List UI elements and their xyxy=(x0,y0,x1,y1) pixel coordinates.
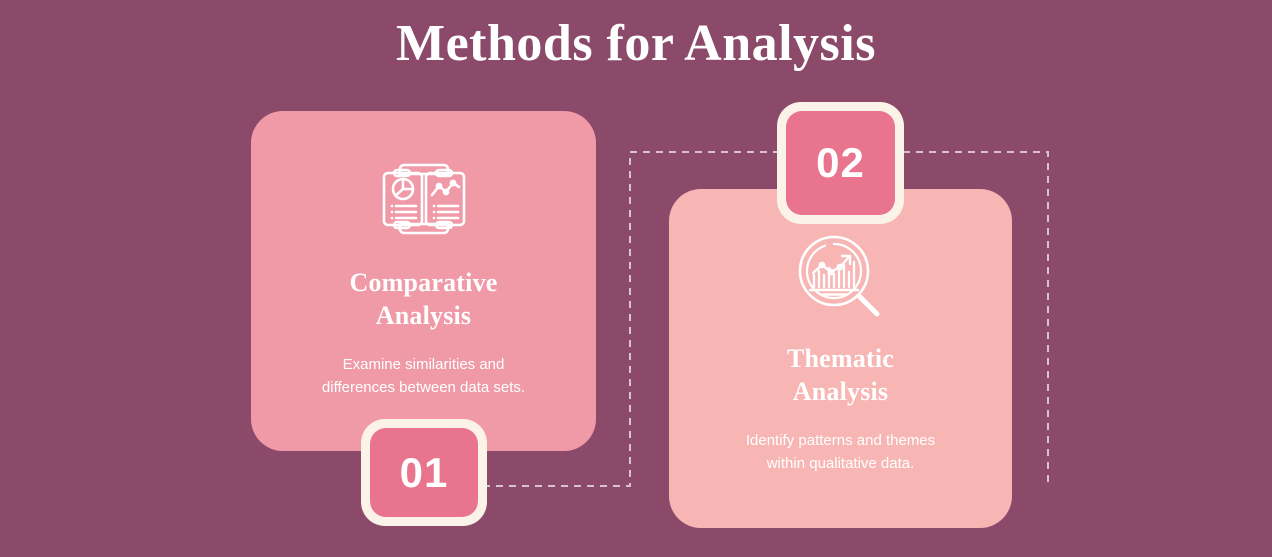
magnifier-bar-chart-icon xyxy=(789,229,893,321)
step-badge-02[interactable]: 02 xyxy=(786,111,895,215)
card-heading-line-2: Analysis xyxy=(787,376,894,409)
dashed-path-connector xyxy=(0,0,1272,557)
card-heading-line-2: Analysis xyxy=(349,300,497,333)
card-thematic-analysis[interactable]: Thematic Analysis Identify patterns and … xyxy=(669,189,1012,528)
card-heading-line-1: Comparative xyxy=(349,267,497,300)
card-heading-line-1: Thematic xyxy=(787,343,894,376)
card-description: Identify patterns and themes within qual… xyxy=(726,430,956,476)
badge-number: 01 xyxy=(370,428,478,517)
card-heading: Comparative Analysis xyxy=(349,267,497,332)
step-badge-01[interactable]: 01 xyxy=(370,428,478,517)
badge-number: 02 xyxy=(786,111,895,215)
comparison-reports-icon xyxy=(372,153,476,245)
infographic-canvas: Methods for Analysis xyxy=(0,0,1272,557)
card-heading: Thematic Analysis xyxy=(787,343,894,408)
page-title: Methods for Analysis xyxy=(0,14,1272,74)
card-comparative-analysis[interactable]: Comparative Analysis Examine similaritie… xyxy=(251,111,596,451)
card-description: Examine similarities and differences bet… xyxy=(309,354,539,400)
